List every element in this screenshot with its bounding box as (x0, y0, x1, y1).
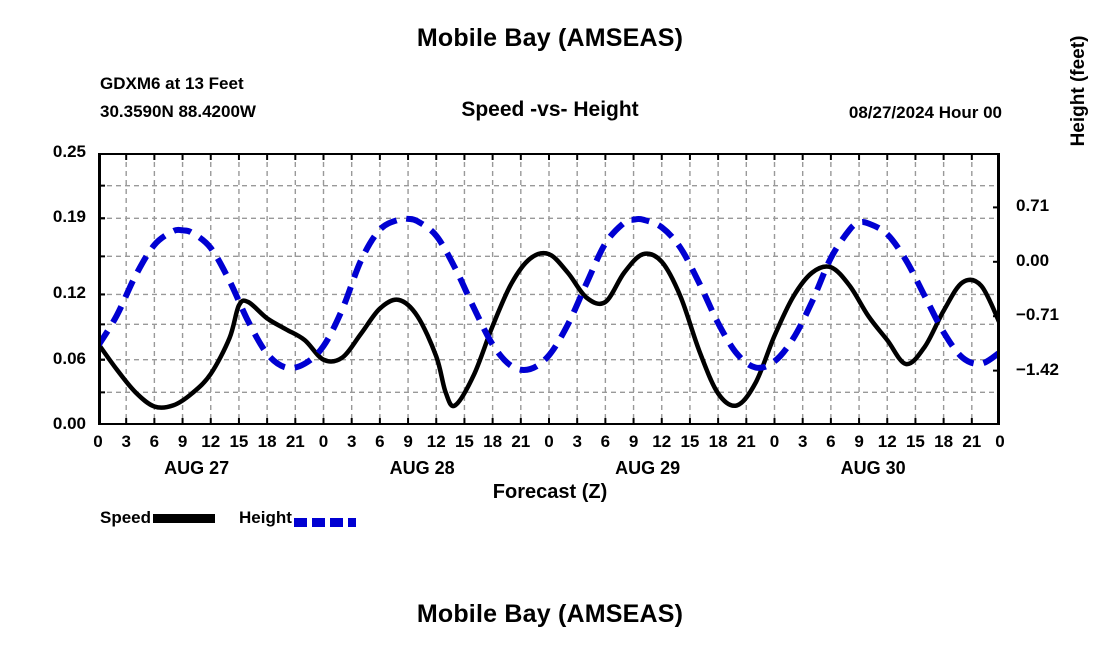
y-tick-left-0.00: 0.00 (16, 414, 86, 434)
day-label-aug-27: AUG 27 (127, 458, 267, 479)
y-tick-right-0.71: 0.71 (1016, 196, 1096, 216)
chart-page: Mobile Bay (AMSEAS) GDXM6 at 13 Feet 30.… (0, 0, 1100, 650)
legend-height-swatch (294, 514, 356, 523)
model-run-timestamp: 08/27/2024 Hour 00 (849, 103, 1002, 123)
y-tick-left-0.06: 0.06 (16, 349, 86, 369)
plot-area (98, 153, 1000, 425)
day-label-aug-28: AUG 28 (352, 458, 492, 479)
y-tick-right--0.71: −0.71 (1016, 305, 1096, 325)
y-axis-label-right: Height (feet) (1068, 0, 1090, 196)
y-tick-left-0.12: 0.12 (16, 283, 86, 303)
plot-frame (98, 153, 1000, 425)
x-axis-label: Forecast (Z) (0, 481, 1100, 504)
station-label: GDXM6 at 13 Feet (100, 74, 244, 94)
legend-height-label: Height (239, 508, 292, 528)
page-title-bottom: Mobile Bay (AMSEAS) (0, 600, 1100, 629)
y-tick-left-0.25: 0.25 (16, 142, 86, 162)
y-tick-right-0.00: 0.00 (1016, 251, 1096, 271)
x-tick-32: 0 (980, 432, 1020, 452)
day-label-aug-30: AUG 30 (803, 458, 943, 479)
page-title-top: Mobile Bay (AMSEAS) (0, 24, 1100, 53)
legend-speed-label: Speed (100, 508, 151, 528)
chart-legend: Speed Height (100, 508, 356, 528)
y-tick-left-0.19: 0.19 (16, 207, 86, 227)
day-label-aug-29: AUG 29 (578, 458, 718, 479)
legend-dash-icon (294, 518, 356, 527)
y-tick-right--1.42: −1.42 (1016, 360, 1096, 380)
legend-speed-swatch (153, 514, 215, 523)
